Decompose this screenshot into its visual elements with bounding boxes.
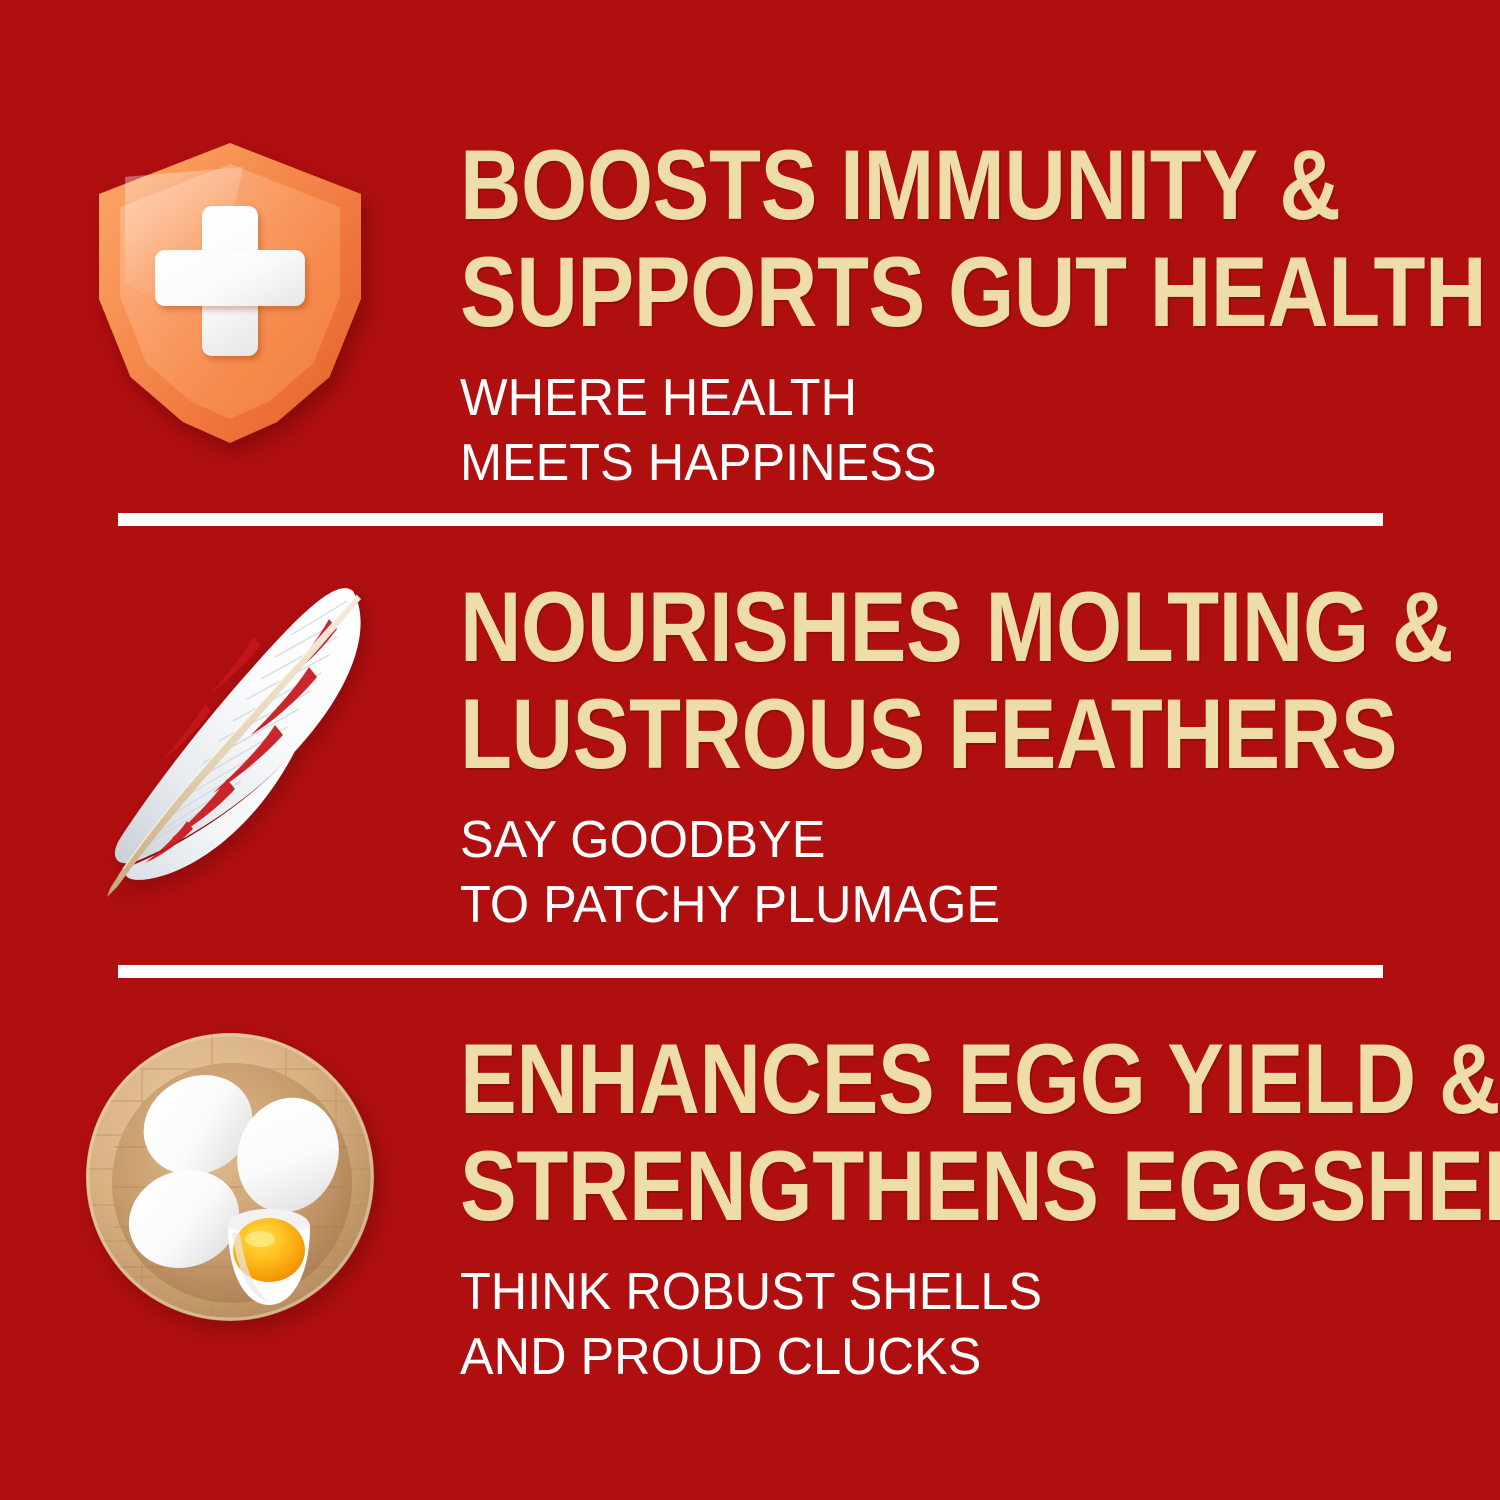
bowl-of-eggs-icon [80, 1027, 380, 1327]
plus-horizontal-bar [155, 250, 305, 306]
section-divider [118, 513, 1383, 526]
feature-title-line2: STRENGTHENS EGGSHELLS [460, 1133, 1500, 1240]
feature-title-line2: LUSTROUS FEATHERS [460, 681, 1453, 788]
feature-subtitle-line1: WHERE HEALTH [460, 346, 1500, 431]
feature-icon-cell-eggs [0, 1022, 460, 1332]
feature-icon-cell-immunity [0, 128, 460, 458]
feather-icon [85, 575, 375, 905]
benefits-poster: BOOSTS IMMUNITY & SUPPORTS GUT HEALTH WH… [0, 0, 1500, 1500]
feature-title-line1: ENHANCES EGG YIELD & [460, 1026, 1500, 1133]
feature-subtitle-line1: SAY GOODBYE [460, 788, 1500, 873]
feature-text-cell-eggs: ENHANCES EGG YIELD & STRENGTHENS EGGSHEL… [460, 1022, 1500, 1390]
feature-icon-cell-feathers [0, 570, 460, 910]
feature-row-feathers: NOURISHES MOLTING & LUSTROUS FEATHERS SA… [0, 570, 1500, 938]
feature-row-immunity: BOOSTS IMMUNITY & SUPPORTS GUT HEALTH WH… [0, 128, 1500, 496]
feature-subtitle-line2: AND PROUD CLUCKS [460, 1325, 1500, 1390]
feature-subtitle-line1: THINK ROBUST SHELLS [460, 1240, 1500, 1325]
feature-subtitle-line2: TO PATCHY PLUMAGE [460, 873, 1500, 938]
feature-subtitle-line2: MEETS HAPPINESS [460, 431, 1500, 496]
feature-title-line1: NOURISHES MOLTING & [460, 574, 1453, 681]
feature-title-line1: BOOSTS IMMUNITY & [460, 132, 1486, 239]
feature-text-cell-immunity: BOOSTS IMMUNITY & SUPPORTS GUT HEALTH WH… [460, 128, 1500, 496]
section-divider [118, 965, 1383, 978]
feature-row-eggs: ENHANCES EGG YIELD & STRENGTHENS EGGSHEL… [0, 1022, 1500, 1390]
feature-text-cell-feathers: NOURISHES MOLTING & LUSTROUS FEATHERS SA… [460, 570, 1500, 938]
shield-plus-icon [99, 143, 361, 443]
feature-title-line2: SUPPORTS GUT HEALTH [460, 239, 1486, 346]
